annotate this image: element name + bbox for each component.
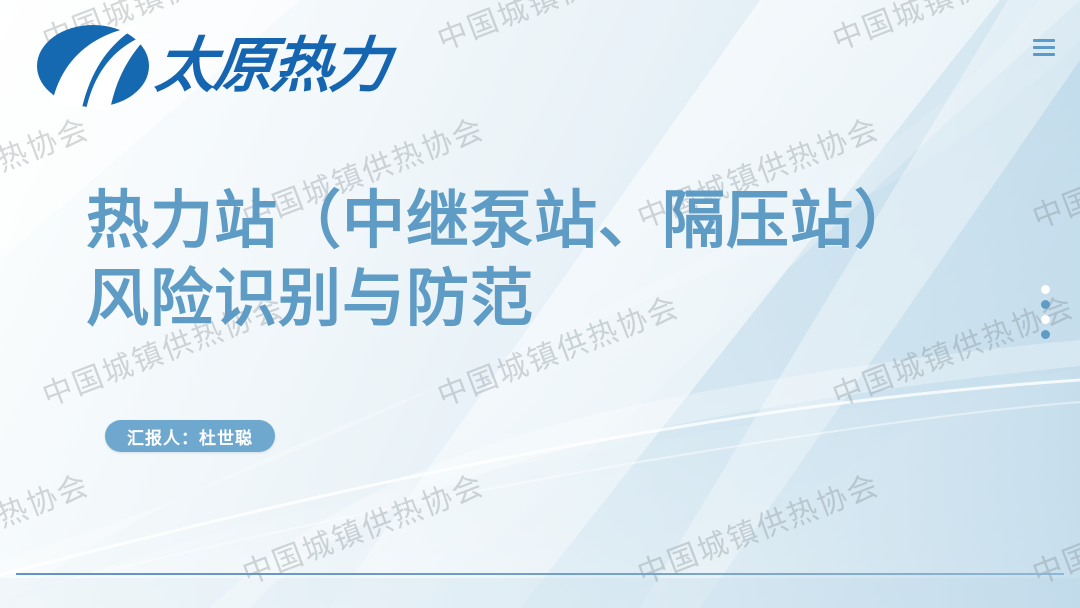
menu-bar-3 (1033, 53, 1055, 56)
bottom-divider (16, 573, 1064, 575)
brand-logo-text: 太原热力 (153, 36, 391, 96)
presentation-slide: 中国城镇供热协会中国城镇供热协会中国城镇供热协会中国城镇供热协会中国城镇供热协会… (0, 0, 1080, 608)
watermark-text: 中国城镇供热协会 (0, 104, 95, 237)
menu-bar-1 (1033, 39, 1055, 42)
title-line-1: 热力站（中继泵站、隔压站） (86, 182, 918, 260)
presenter-badge: 汇报人：杜世聪 (105, 420, 275, 452)
four-dot-column-icon (1039, 285, 1051, 339)
dot-1 (1041, 285, 1050, 294)
dot-2 (1041, 300, 1050, 309)
title-line-2: 风险识别与防范 (86, 260, 918, 338)
menu-bar-2 (1033, 46, 1055, 49)
ellipse-wave-logo-icon (34, 20, 152, 112)
dot-4 (1041, 330, 1050, 339)
brand-logo: 太原热力 (34, 20, 388, 112)
dot-3 (1041, 315, 1050, 324)
watermark-text: 中国城镇供热协会 (1025, 104, 1080, 237)
hamburger-menu-icon[interactable] (1033, 39, 1055, 56)
page-title: 热力站（中继泵站、隔压站） 风险识别与防范 (86, 182, 918, 338)
watermark-text: 中国城镇供热协会 (430, 0, 685, 59)
